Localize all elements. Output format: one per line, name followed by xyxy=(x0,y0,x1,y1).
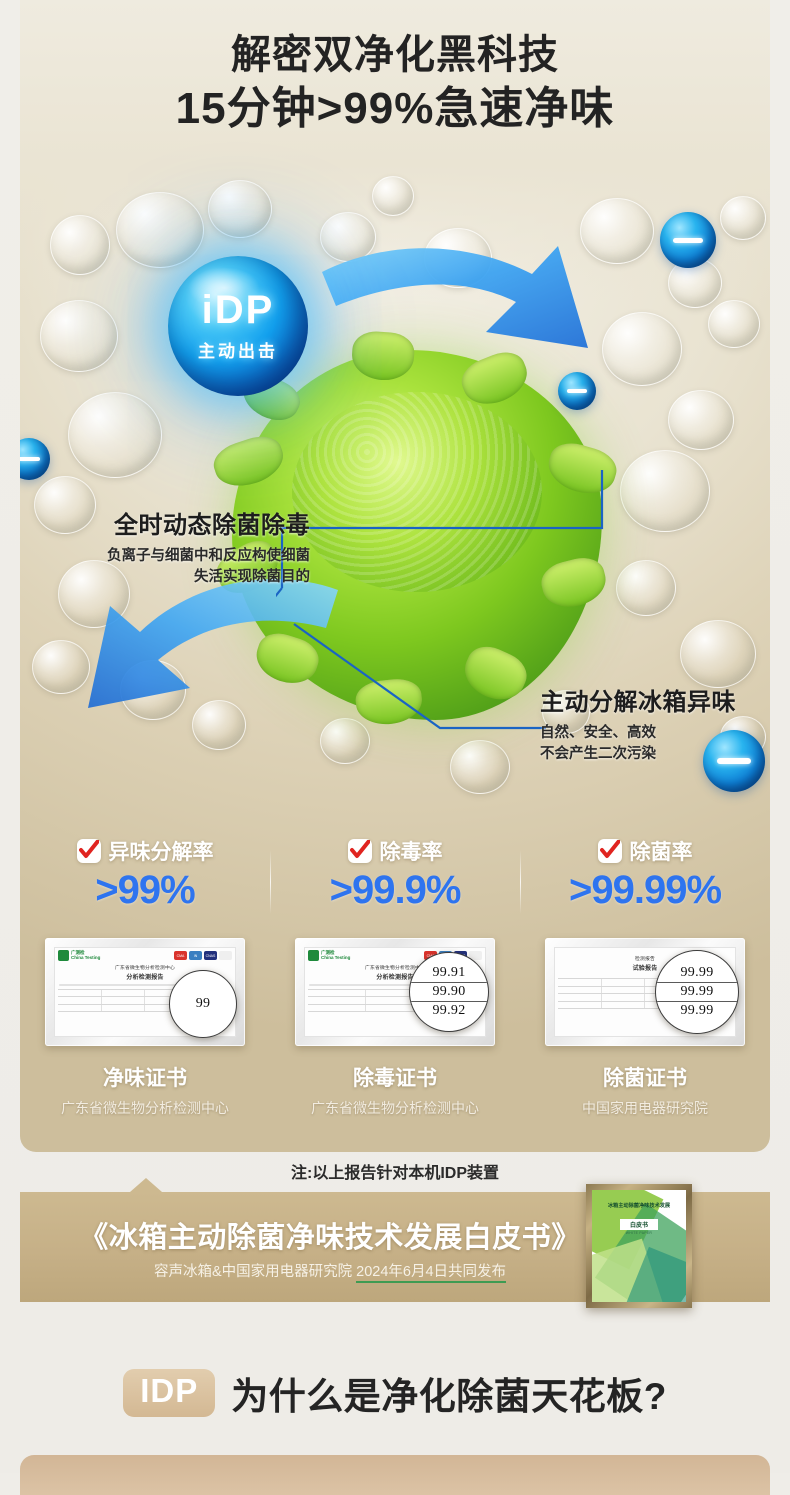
magnified-value: 99 xyxy=(170,995,236,1013)
whitepaper-publisher: 容声冰箱&中国家用电器研究院 xyxy=(154,1264,352,1280)
stat-label: 除毒率 xyxy=(380,836,443,866)
check-icon xyxy=(77,839,101,863)
callout-description: 自然、安全、高效 不会产生二次污染 xyxy=(540,723,770,765)
stat-label: 异味分解率 xyxy=(109,836,214,866)
seal-cnas-icon: CNAS xyxy=(204,951,217,960)
callout-desc-line-2: 不会产生二次污染 xyxy=(540,746,656,762)
glass-bubble xyxy=(616,560,676,616)
flow-arrow-top xyxy=(320,228,620,378)
callout-description: 负离子与细菌中和反应构使细菌 失活实现除菌目的 xyxy=(60,546,310,588)
idp-sphere-subtitle: 主动出击 xyxy=(198,337,278,362)
paper-title-line: 检测报告 xyxy=(635,957,655,962)
lab-logo-en: China Testing xyxy=(321,955,350,960)
callout-title: 全时动态除菌除毒 xyxy=(60,505,310,540)
certificate-frame[interactable]: 广测检China Testing CMA IN CNAS 广东省微生物分析检测中… xyxy=(295,938,495,1046)
cover-english-label: WHITE PAPER xyxy=(620,1231,658,1235)
glass-bubble xyxy=(50,215,110,275)
glass-bubble xyxy=(708,300,760,348)
whitepaper-cover: 冰箱主动除菌净味技术发展 白皮书 WHITE PAPER xyxy=(592,1190,686,1302)
whitepaper-release-date: 2024年6月4日共同发布 xyxy=(356,1264,506,1283)
lab-logo-en: China Testing xyxy=(71,955,100,960)
stat-detoxification: 除毒率 >99.9% xyxy=(270,836,520,932)
callout-desc-line-1: 自然、安全、高效 xyxy=(540,725,656,741)
certificates-row: 广测检China Testing CMA IN CNAS 广东省微生物分析检测中… xyxy=(20,938,770,1118)
callout-leader-line-right xyxy=(290,620,550,750)
callout-odor-removal: 主动分解冰箱异味 自然、安全、高效 不会产生二次污染 xyxy=(540,682,770,765)
glass-bubble xyxy=(668,390,734,450)
glass-bubble xyxy=(208,180,272,238)
negative-ion-icon xyxy=(20,438,50,480)
product-detail-page: 解密双净化黑科技 15分钟>99%急速净味 xyxy=(0,0,790,1473)
stat-header: 异味分解率 xyxy=(77,836,214,866)
page-title: 解密双净化黑科技 15分钟>99%急速净味 xyxy=(20,32,770,135)
glass-bubble xyxy=(720,196,766,240)
seal-text-icon xyxy=(219,951,232,960)
accreditation-seals: CMA IN CNAS xyxy=(174,951,232,960)
seal-cma-icon: CMA xyxy=(174,951,187,960)
stat-sterilization: 除菌率 >99.99% xyxy=(520,836,770,932)
whitepaper-book-image[interactable]: 冰箱主动除菌净味技术发展 白皮书 WHITE PAPER xyxy=(586,1184,692,1308)
stats-row: 异味分解率 >99% 除毒率 >99.9% xyxy=(20,836,770,932)
stat-label: 除菌率 xyxy=(630,836,693,866)
negative-ion-icon xyxy=(558,372,596,410)
certificate-detox: 广测检China Testing CMA IN CNAS 广东省微生物分析检测中… xyxy=(270,938,520,1118)
magnified-value: 99.92 xyxy=(410,1001,488,1020)
section-heading-title: 为什么是净化除菌天花板? xyxy=(231,1366,667,1420)
seal-inclans-icon: IN xyxy=(189,951,202,960)
certificate-frame[interactable]: 检测报告 试验报告 99.99 99.99 99.99 xyxy=(545,938,745,1046)
check-icon xyxy=(598,839,622,863)
magnified-value: 99.99 xyxy=(656,982,738,1001)
next-section-strip xyxy=(20,1455,770,1495)
section-heading: IDP 为什么是净化除菌天花板? xyxy=(0,1366,790,1420)
certificate-name: 净味证书 xyxy=(103,1062,187,1092)
report-note: 注:以上报告针对本机IDP装置 xyxy=(0,1159,790,1183)
certificate-frame[interactable]: 广测检China Testing CMA IN CNAS 广东省微生物分析检测中… xyxy=(45,938,245,1046)
idp-badge: IDP xyxy=(123,1369,215,1416)
callout-desc-line-2: 失活实现除菌目的 xyxy=(194,569,310,585)
stat-header: 除菌率 xyxy=(598,836,693,866)
magnified-value: 99.99 xyxy=(656,964,738,982)
band-notch xyxy=(130,1178,162,1192)
certificate-sterilization: 检测报告 试验报告 99.99 99.99 99.99 除菌证书 xyxy=(520,938,770,1118)
headline-line-2: 15分钟>99%急速净味 xyxy=(20,83,770,135)
magnifier-lens: 99.99 99.99 99.99 xyxy=(655,950,739,1034)
cover-title: 冰箱主动除菌净味技术发展 xyxy=(598,1203,681,1210)
headline-line-1: 解密双净化黑科技 xyxy=(20,32,770,79)
certificate-letterhead: 广测检China Testing CMA IN CNAS xyxy=(54,947,236,963)
glass-bubble xyxy=(40,300,118,372)
magnified-value: 99.90 xyxy=(410,982,488,1001)
glass-bubble xyxy=(680,620,756,688)
callout-leader-line-left xyxy=(276,470,606,610)
stat-value: >99% xyxy=(95,868,194,913)
callout-sterilization: 全时动态除菌除毒 负离子与细菌中和反应构使细菌 失活实现除菌目的 xyxy=(60,505,310,588)
stat-odor-decomposition: 异味分解率 >99% xyxy=(20,836,270,932)
magnified-value: 99.99 xyxy=(656,1001,738,1020)
certificate-organization: 广东省微生物分析检测中心 xyxy=(61,1098,229,1118)
glass-bubble xyxy=(620,450,710,532)
glass-bubble xyxy=(68,392,162,478)
certificate-name: 除毒证书 xyxy=(353,1062,437,1092)
glass-bubble xyxy=(116,192,204,268)
magnifier-lens: 99 xyxy=(169,970,237,1038)
magnified-value: 99.91 xyxy=(410,964,488,982)
stat-value: >99.99% xyxy=(569,868,721,913)
callout-desc-line-1: 负离子与细菌中和反应构使细菌 xyxy=(107,548,310,564)
idp-sphere-badge: iDP 主动出击 xyxy=(168,256,308,396)
stat-value: >99.9% xyxy=(330,868,461,913)
lab-logo-icon: 广测检China Testing xyxy=(58,950,100,961)
callout-title: 主动分解冰箱异味 xyxy=(540,682,770,717)
idp-sphere-word: iDP xyxy=(202,290,275,330)
paper-title-line: 广东省微生物分析检测中心 xyxy=(115,966,175,971)
whitepaper-subtitle: 容声冰箱&中国家用电器研究院 2024年6月4日共同发布 xyxy=(50,1260,610,1281)
magnifier-lens: 99.91 99.90 99.92 xyxy=(409,952,489,1032)
certificate-organization: 广东省微生物分析检测中心 xyxy=(311,1098,479,1118)
negative-ion-icon xyxy=(660,212,716,268)
whitepaper-title: 《冰箱主动除菌净味技术发展白皮书》 xyxy=(50,1214,610,1256)
whitepaper-band: 《冰箱主动除菌净味技术发展白皮书》 容声冰箱&中国家用电器研究院 2024年6月… xyxy=(20,1192,770,1302)
glass-bubble xyxy=(372,176,414,216)
stat-header: 除毒率 xyxy=(348,836,443,866)
lab-logo-icon: 广测检China Testing xyxy=(308,950,350,961)
certificate-organization: 中国家用电器研究院 xyxy=(582,1098,708,1118)
check-icon xyxy=(348,839,372,863)
certificate-name: 除菌证书 xyxy=(603,1062,687,1092)
cover-badge: 白皮书 xyxy=(620,1219,658,1230)
certificate-odor: 广测检China Testing CMA IN CNAS 广东省微生物分析检测中… xyxy=(20,938,270,1118)
